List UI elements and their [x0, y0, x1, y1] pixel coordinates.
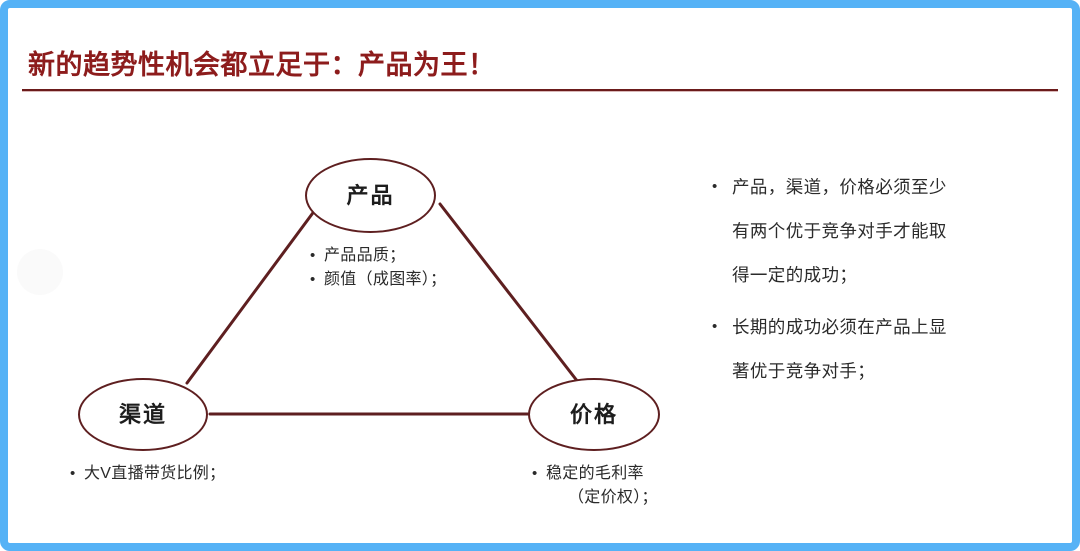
- bullet-icon: •: [310, 268, 324, 292]
- page-title: 新的趋势性机会都立足于：产品为王！: [28, 43, 496, 82]
- channel-bullet-list: • 大V直播带货比例；: [70, 462, 225, 486]
- list-item-label: 产品品质；: [324, 244, 406, 268]
- slide-canvas: 新的趋势性机会都立足于：产品为王！ 产品 渠道 价格 • 产品品质； • 颜值（: [0, 0, 1080, 551]
- note-text: 产品，渠道，价格必须至少 有两个优于竞争对手才能取 得一定的成功；: [732, 165, 947, 297]
- diagram-node-price[interactable]: 价格: [528, 378, 660, 451]
- title-divider: [22, 89, 1058, 91]
- product-bullet-list: • 产品品质； • 颜值（成图率）；: [310, 244, 446, 292]
- note-line: 有两个优于竞争对手才能取: [732, 209, 947, 253]
- bullet-icon: •: [310, 244, 324, 268]
- watermark-circle: [17, 249, 63, 295]
- list-item-label: 大V直播带货比例；: [84, 462, 225, 486]
- diagram-node-channel-label: 渠道: [119, 404, 167, 426]
- diagram-node-product[interactable]: 产品: [305, 158, 436, 233]
- list-item: • 大V直播带货比例；: [70, 462, 225, 486]
- edge-product-channel: [187, 206, 318, 383]
- bullet-icon: •: [712, 165, 732, 209]
- list-item-label-continued: （定价权）；: [546, 486, 658, 510]
- diagram-node-channel[interactable]: 渠道: [78, 378, 208, 451]
- bullet-icon: •: [532, 462, 546, 486]
- list-item: • 颜值（成图率）；: [310, 268, 446, 292]
- note-text: 长期的成功必须在产品上显 著优于竞争对手；: [732, 305, 947, 393]
- diagram-node-price-label: 价格: [570, 404, 618, 426]
- list-item: • 稳定的毛利率: [532, 462, 658, 486]
- list-item: • 长期的成功必须在产品上显 著优于竞争对手；: [712, 305, 1042, 393]
- list-item: （定价权）；: [532, 486, 658, 510]
- diagram-node-product-label: 产品: [346, 185, 394, 207]
- note-line: 长期的成功必须在产品上显: [732, 305, 947, 349]
- notes-list: • 产品，渠道，价格必须至少 有两个优于竞争对手才能取 得一定的成功； • 长期…: [712, 165, 1042, 401]
- list-item: • 产品品质；: [310, 244, 446, 268]
- list-item-label: 颜值（成图率）；: [324, 268, 446, 292]
- note-line: 产品，渠道，价格必须至少: [732, 165, 947, 209]
- list-item-label: 稳定的毛利率: [546, 462, 644, 486]
- note-line: 得一定的成功；: [732, 253, 947, 297]
- price-bullet-list: • 稳定的毛利率 （定价权）；: [532, 462, 658, 510]
- bullet-icon: •: [70, 462, 84, 486]
- slide-frame: 新的趋势性机会都立足于：产品为王！ 产品 渠道 价格 • 产品品质； • 颜值（: [0, 0, 1080, 551]
- list-item: • 产品，渠道，价格必须至少 有两个优于竞争对手才能取 得一定的成功；: [712, 165, 1042, 297]
- edge-product-price: [440, 204, 578, 382]
- note-line: 著优于竞争对手；: [732, 349, 947, 393]
- bullet-icon: •: [712, 305, 732, 349]
